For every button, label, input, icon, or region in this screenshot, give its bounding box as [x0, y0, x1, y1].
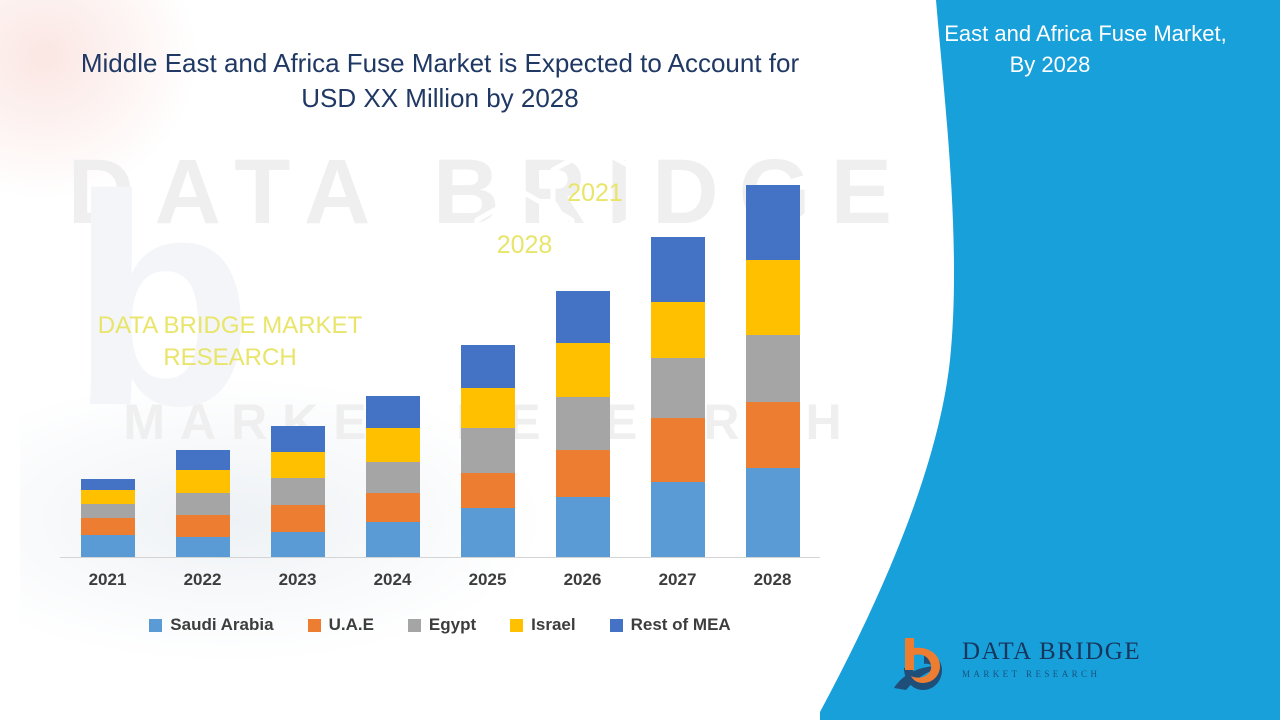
logo-name: DATA BRIDGE: [962, 638, 1141, 666]
bar-segment-rest-of-mea: [461, 345, 515, 388]
bar-stack: [556, 291, 610, 557]
bar-segment-egypt: [366, 462, 420, 493]
bar-column-2028: [725, 157, 820, 557]
bar-stack: [366, 396, 420, 557]
data-bridge-logo-icon: [890, 632, 952, 694]
bar-stack: [81, 479, 135, 557]
chart-title-line-1: Middle East and Africa Fuse Market is Ex…: [60, 46, 820, 81]
bar-segment-saudi-arabia: [176, 537, 230, 557]
bar-segment-israel: [81, 490, 135, 504]
legend-swatch-egypt: [408, 619, 421, 632]
legend-item-egypt[interactable]: Egypt: [408, 615, 476, 635]
x-tick-label-2027: 2027: [630, 570, 725, 590]
bar-stack: [461, 345, 515, 557]
bar-stack: [746, 185, 800, 557]
brand-panel-title: Middle East and Africa Fuse Market, By 2…: [840, 18, 1260, 80]
legend-label-egypt: Egypt: [429, 615, 476, 635]
bar-segment-u-a-e: [271, 505, 325, 532]
hex-badge-2028: 2028: [468, 189, 581, 302]
logo-subtitle: MARKET RESEARCH: [962, 669, 1141, 679]
bar-segment-rest-of-mea: [271, 426, 325, 452]
bar-segment-saudi-arabia: [556, 497, 610, 557]
legend-item-israel[interactable]: Israel: [510, 615, 575, 635]
bar-segment-egypt: [176, 493, 230, 515]
bar-segment-israel: [746, 260, 800, 335]
legend-label-saudi-arabia: Saudi Arabia: [170, 615, 273, 635]
logo-wordmark: DATA BRIDGE MARKET RESEARCH: [962, 638, 1141, 679]
bar-segment-u-a-e: [746, 402, 800, 468]
legend-swatch-rest-of-mea: [610, 619, 623, 632]
legend-swatch-israel: [510, 619, 523, 632]
legend-item-saudi-arabia[interactable]: Saudi Arabia: [149, 615, 273, 635]
chart-title-line-2: USD XX Million by 2028: [60, 81, 820, 116]
bar-stack: [651, 237, 705, 557]
bar-segment-israel: [651, 302, 705, 358]
hex-badge-2028-label: 2028: [497, 231, 553, 260]
legend-item-u-a-e[interactable]: U.A.E: [308, 615, 374, 635]
bar-stack: [176, 450, 230, 557]
legend-item-rest-of-mea[interactable]: Rest of MEA: [610, 615, 731, 635]
x-tick-label-2025: 2025: [440, 570, 535, 590]
bar-segment-rest-of-mea: [81, 479, 135, 490]
bar-segment-rest-of-mea: [746, 185, 800, 260]
bar-segment-u-a-e: [176, 515, 230, 537]
bar-segment-israel: [176, 470, 230, 493]
bar-segment-rest-of-mea: [651, 237, 705, 302]
legend-label-rest-of-mea: Rest of MEA: [631, 615, 731, 635]
bar-segment-egypt: [556, 397, 610, 450]
bar-segment-saudi-arabia: [81, 535, 135, 557]
bar-segment-u-a-e: [81, 518, 135, 535]
bar-segment-israel: [556, 343, 610, 397]
bar-segment-israel: [366, 428, 420, 462]
bar-segment-egypt: [746, 335, 800, 402]
legend-label-u-a-e: U.A.E: [329, 615, 374, 635]
bar-segment-u-a-e: [556, 450, 610, 497]
bar-segment-israel: [271, 452, 325, 478]
bar-segment-israel: [461, 388, 515, 428]
legend-label-israel: Israel: [531, 615, 575, 635]
x-tick-label-2024: 2024: [345, 570, 440, 590]
x-tick-label-2022: 2022: [155, 570, 250, 590]
x-axis-tick-labels: 20212022202320242025202620272028: [60, 570, 820, 590]
bar-segment-saudi-arabia: [366, 522, 420, 557]
x-tick-label-2028: 2028: [725, 570, 820, 590]
bar-segment-rest-of-mea: [176, 450, 230, 470]
bar-segment-egypt: [81, 504, 135, 518]
bar-segment-saudi-arabia: [651, 482, 705, 557]
bar-segment-egypt: [271, 478, 325, 505]
company-logo: DATA BRIDGE MARKET RESEARCH: [890, 632, 1120, 700]
legend-swatch-u-a-e: [308, 619, 321, 632]
brand-panel-background: [820, 0, 1280, 720]
legend-swatch-saudi-arabia: [149, 619, 162, 632]
chart-title: Middle East and Africa Fuse Market is Ex…: [60, 46, 820, 116]
chart-legend: Saudi ArabiaU.A.EEgyptIsraelRest of MEA: [60, 615, 820, 635]
bar-segment-saudi-arabia: [271, 532, 325, 557]
bar-segment-egypt: [651, 358, 705, 418]
bar-stack: [271, 426, 325, 557]
bar-segment-saudi-arabia: [461, 508, 515, 557]
x-tick-label-2026: 2026: [535, 570, 630, 590]
bar-segment-rest-of-mea: [366, 396, 420, 428]
brand-panel-name-line-1: DATA BRIDGE MARKET: [20, 310, 440, 342]
bar-segment-saudi-arabia: [746, 468, 800, 557]
brand-panel-title-line-1: Middle East and Africa Fuse Market,: [840, 18, 1260, 49]
bar-segment-egypt: [461, 428, 515, 473]
brand-panel-title-line-2: By 2028: [840, 49, 1260, 80]
x-axis-line: [60, 557, 820, 558]
bar-segment-u-a-e: [651, 418, 705, 482]
x-tick-label-2021: 2021: [60, 570, 155, 590]
brand-panel-name-line-2: RESEARCH: [20, 342, 440, 374]
brand-panel: Middle East and Africa Fuse Market, By 2…: [820, 0, 1280, 720]
bar-segment-u-a-e: [366, 493, 420, 522]
x-tick-label-2023: 2023: [250, 570, 345, 590]
brand-panel-name: DATA BRIDGE MARKET RESEARCH: [20, 310, 440, 374]
bar-segment-u-a-e: [461, 473, 515, 508]
